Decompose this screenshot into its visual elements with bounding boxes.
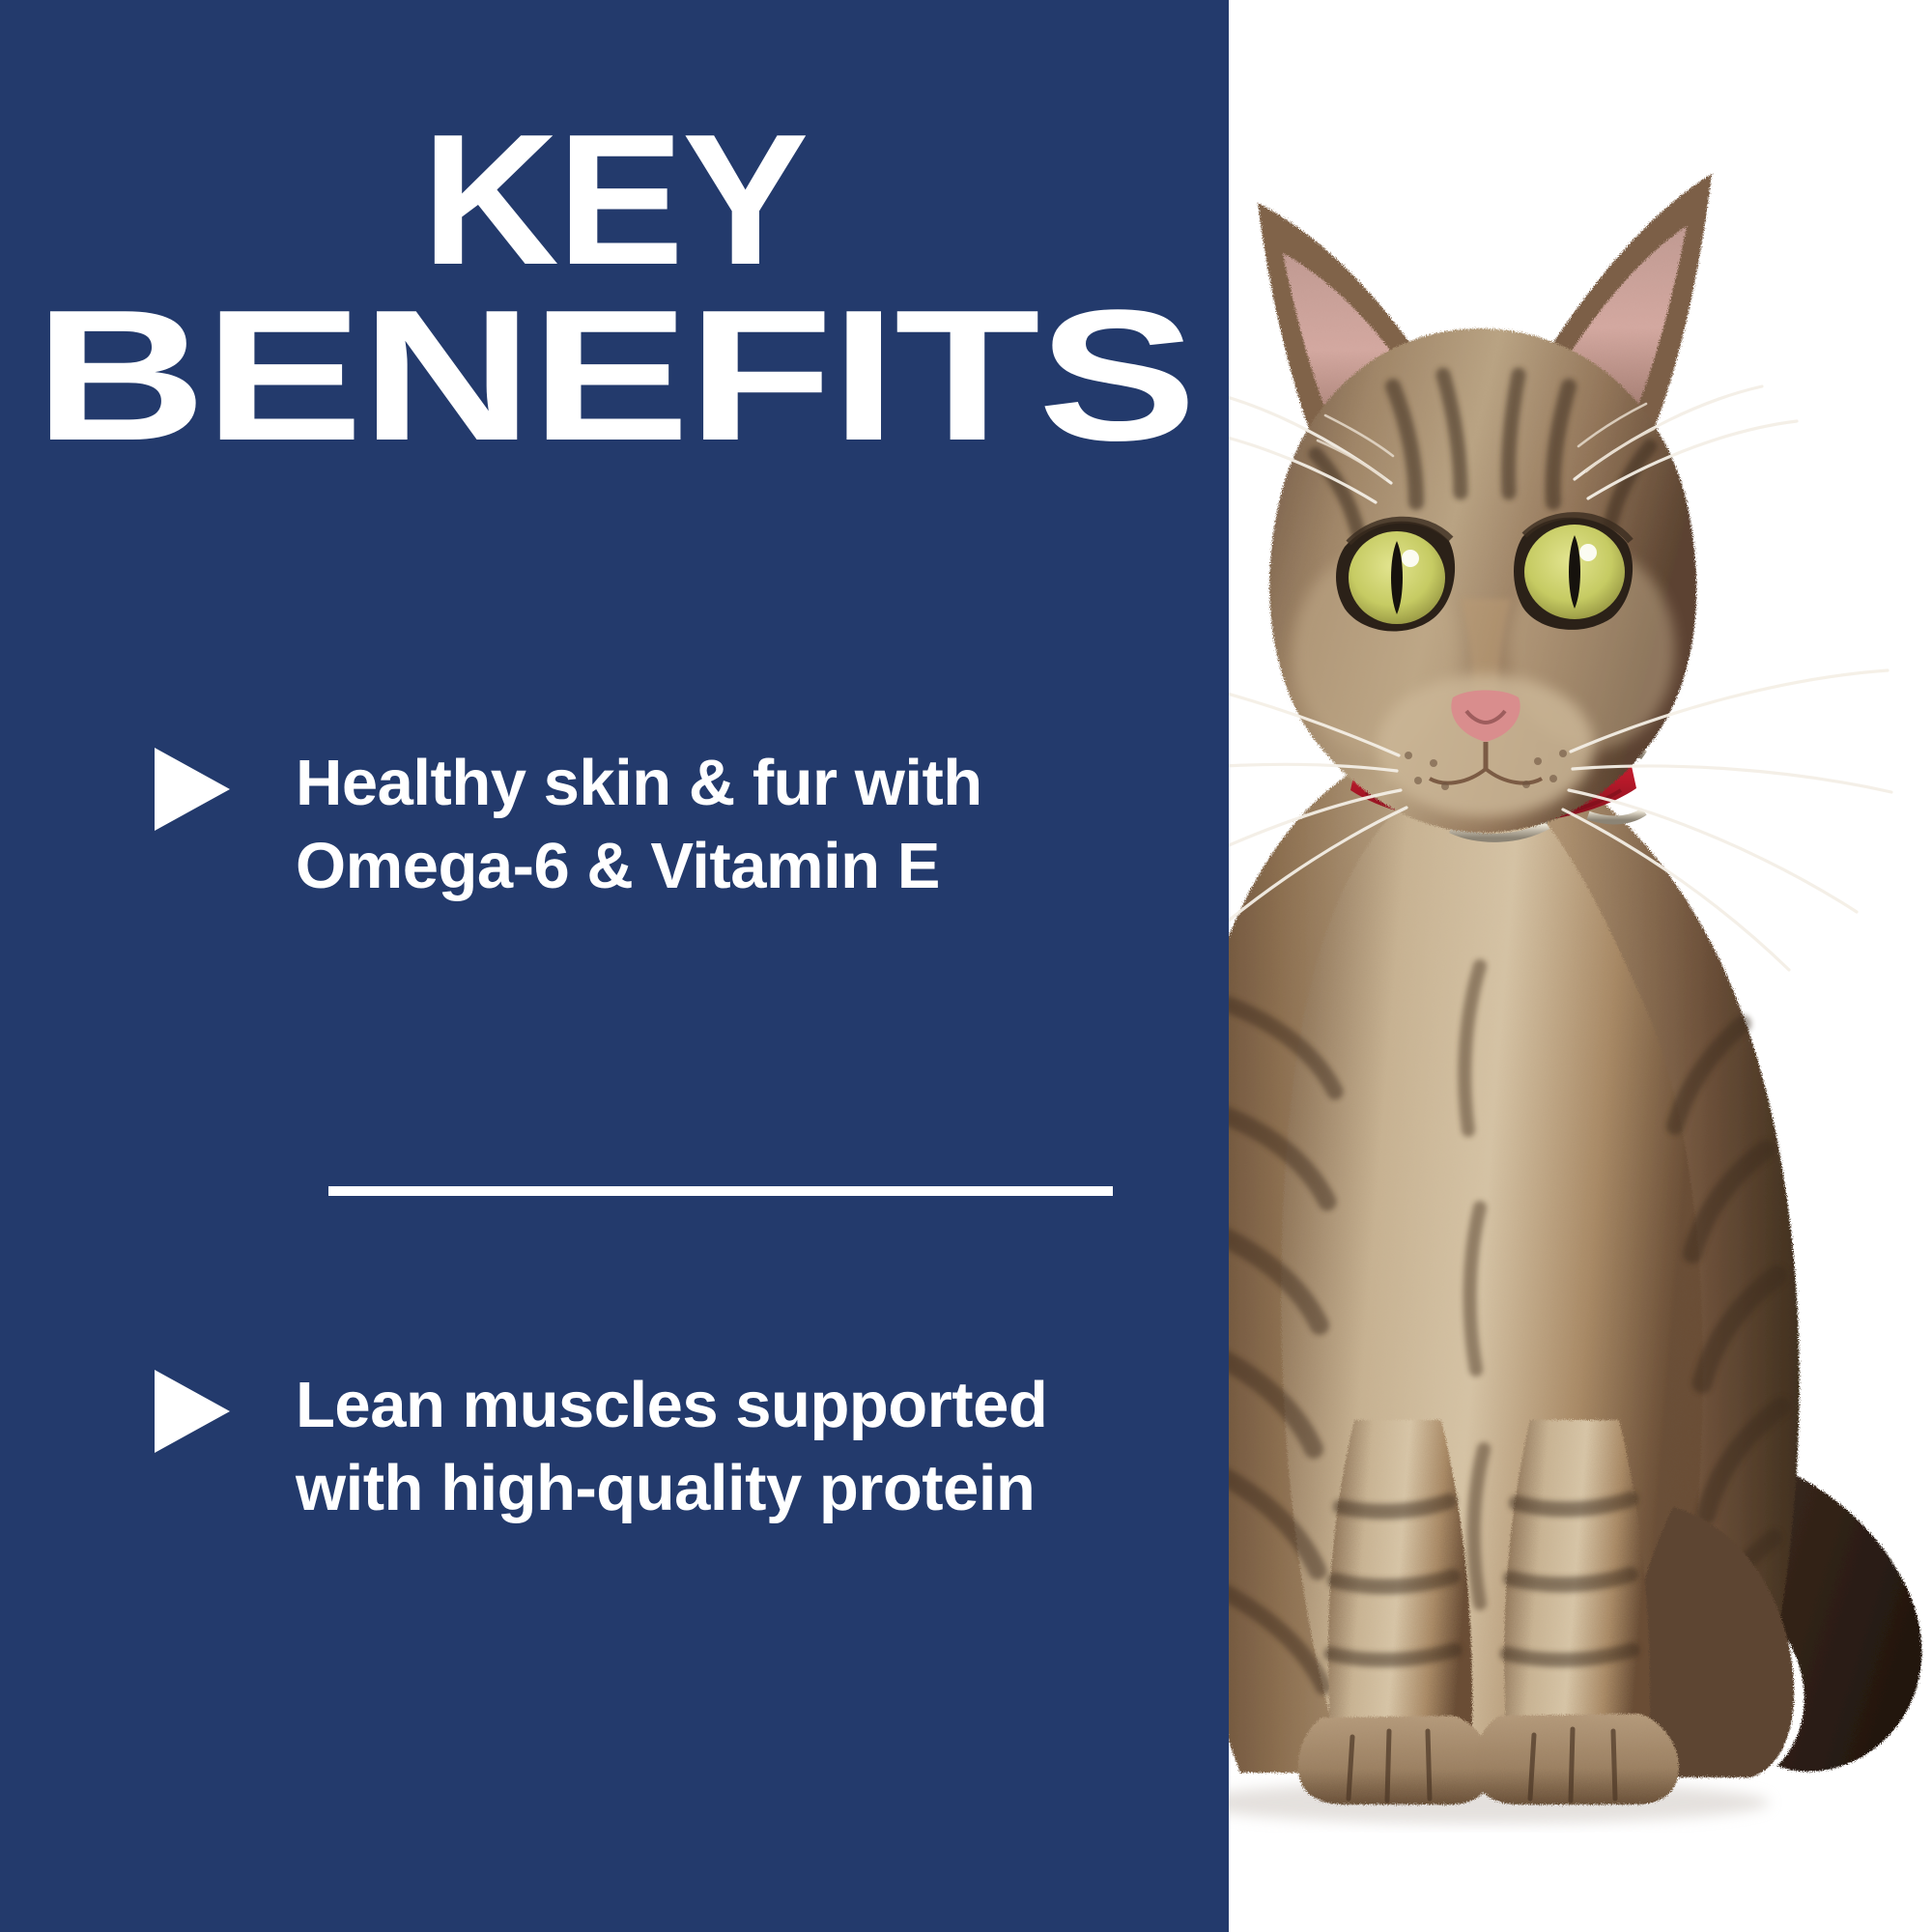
section-divider <box>328 1186 1113 1196</box>
benefit-item-1-label: Healthy skin & fur with Omega-6 & Vitami… <box>296 742 1107 908</box>
benefit-item-2: Lean muscles supported with high-quality… <box>155 1364 1140 1530</box>
triangle-right-icon <box>155 1370 230 1453</box>
title-line-1: KEY <box>0 114 1241 286</box>
page-title: KEY BENEFITS <box>0 114 1229 461</box>
cat-photo <box>1229 0 1932 1932</box>
title-line-2: BENEFITS <box>0 290 1401 462</box>
triangle-right-icon <box>155 748 230 831</box>
benefit-item-2-label: Lean muscles supported with high-quality… <box>296 1364 1107 1530</box>
benefit-item-1: Healthy skin & fur with Omega-6 & Vitami… <box>155 742 1140 908</box>
product-photo-area <box>1229 0 1932 1932</box>
key-benefits-panel: KEY BENEFITS Healthy skin & fur with Ome… <box>0 0 1932 1932</box>
